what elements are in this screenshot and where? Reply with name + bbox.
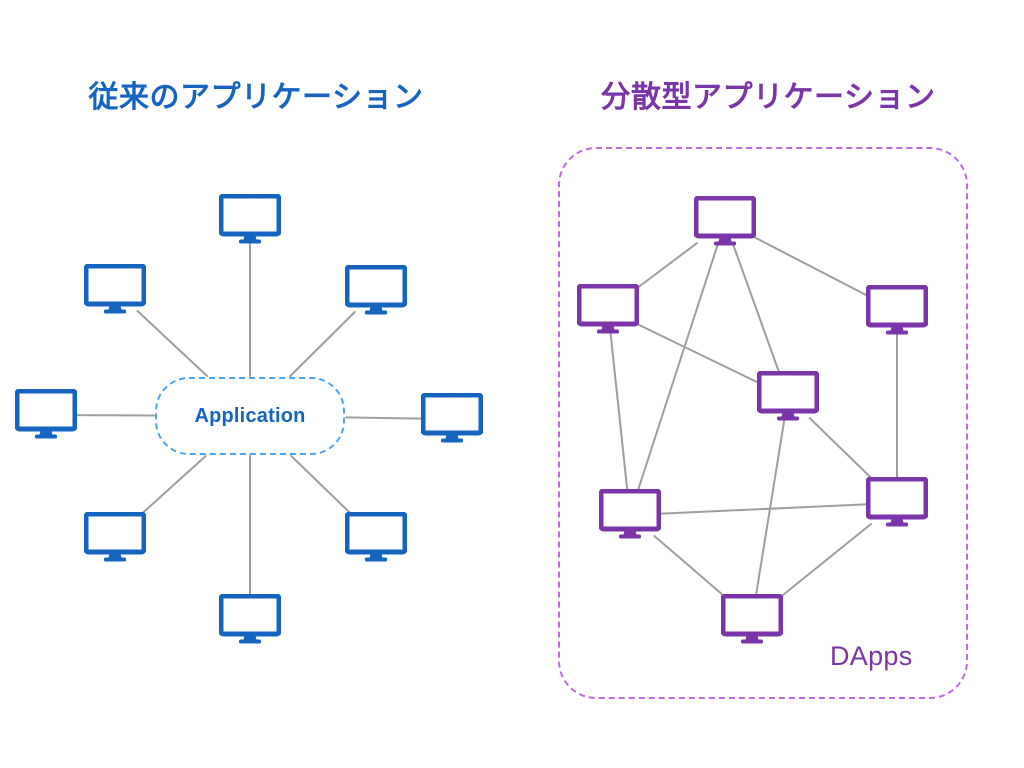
connector-line bbox=[346, 417, 423, 418]
slide-canvas: 従来のアプリケーション 分散型アプリケーション DApps Applicatio… bbox=[0, 0, 1024, 768]
connector-edges bbox=[0, 0, 1024, 768]
connector-line bbox=[810, 418, 876, 482]
connector-line bbox=[610, 331, 627, 494]
connector-line bbox=[291, 456, 354, 517]
connector-line bbox=[138, 456, 206, 517]
connector-line bbox=[778, 524, 871, 599]
connector-line bbox=[636, 243, 697, 289]
connector-line bbox=[733, 243, 781, 376]
connector-line bbox=[290, 312, 355, 376]
connector-line bbox=[637, 324, 759, 383]
application-hub-label: Application bbox=[194, 405, 305, 428]
connector-line bbox=[138, 311, 208, 376]
connector-line bbox=[754, 237, 868, 296]
connector-line bbox=[659, 504, 868, 513]
application-hub[interactable]: Application bbox=[155, 377, 345, 455]
connector-line bbox=[637, 243, 718, 494]
connector-line bbox=[654, 536, 727, 599]
